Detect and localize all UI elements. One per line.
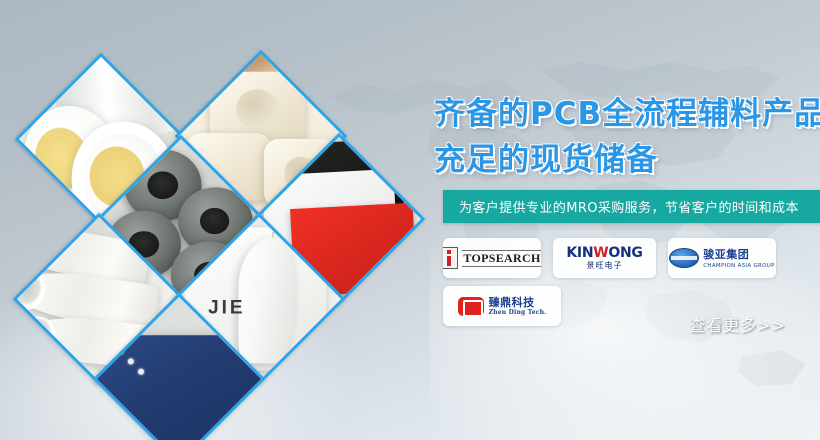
- partner-logo-kinwong[interactable]: KINWONG 景旺电子: [553, 238, 656, 278]
- subtitle-bar: 为客户提供专业的MRO采购服务，节省客户的时间和成本: [443, 190, 820, 223]
- headline-line-2: 充足的现货储备: [434, 145, 820, 176]
- zhen-ding-chinese-name: 臻鼎科技: [489, 297, 547, 308]
- champion-asia-english-name: CHAMPION ASIA GROUP: [703, 264, 774, 270]
- topsearch-mark-icon: [443, 247, 458, 269]
- partner-logo-row-1: TOPSEARCH KINWONG 景旺电子 骏亚集团 CHAMPION ASI: [443, 238, 820, 278]
- kinwong-chinese-name: 景旺电子: [566, 262, 642, 270]
- kinwong-word-c: ONG: [608, 245, 642, 261]
- zhen-ding-mark-icon: [458, 297, 484, 316]
- subtitle-text: 为客户提供专业的MRO采购服务，节省客户的时间和成本: [443, 197, 799, 216]
- release-liner-print: JIE: [208, 296, 245, 318]
- product-collage: JIE: [0, 0, 420, 440]
- banner-text-panel: 齐备的PCB全流程辅料产品、 充足的现货储备 为客户提供专业的MRO采购服务，节…: [420, 0, 820, 440]
- kinwong-word-a: KIN: [566, 245, 593, 261]
- kinwong-wordmark: KINWONG: [566, 246, 642, 260]
- promo-banner: JIE 齐备的PCB全流程辅料产品、 充足的现货储备 为客户提供专业的MRO采购…: [0, 0, 820, 440]
- headline-line-1: 齐备的PCB全流程辅料产品、: [434, 99, 820, 130]
- globe-icon: [669, 248, 699, 268]
- partner-logo-zhen-ding[interactable]: 臻鼎科技 Zhen Ding Tech.: [443, 286, 561, 326]
- partner-logo-champion-asia[interactable]: 骏亚集团 CHAMPION ASIA GROUP: [668, 238, 776, 278]
- view-more-link[interactable]: 查看更多>>: [689, 312, 786, 336]
- zhen-ding-english-name: Zhen Ding Tech.: [489, 310, 547, 316]
- partner-logo-topsearch[interactable]: TOPSEARCH: [443, 238, 541, 278]
- champion-asia-chinese-name: 骏亚集团: [703, 248, 749, 261]
- topsearch-wordmark: TOPSEARCH: [462, 250, 541, 267]
- kinwong-word-w: W: [593, 245, 608, 261]
